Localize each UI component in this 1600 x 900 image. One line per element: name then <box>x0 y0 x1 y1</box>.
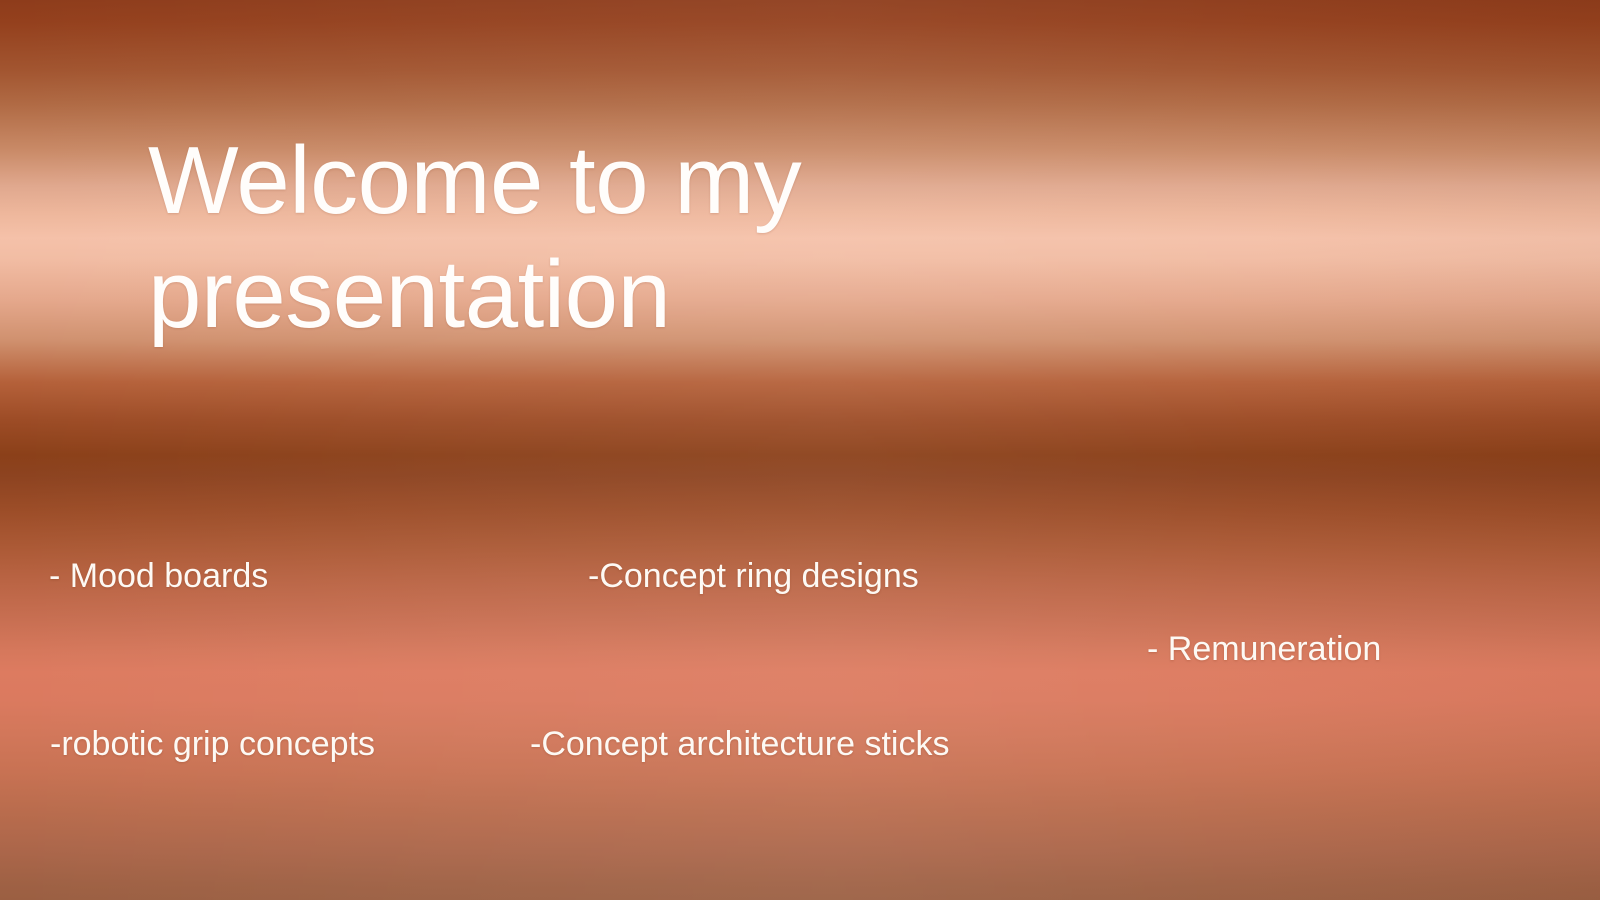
bullet-item-robotic-grip-concepts: -robotic grip concepts <box>50 723 375 765</box>
slide-title-line-2: presentation <box>148 238 1008 352</box>
presentation-slide: Welcome to my presentation - Mood boards… <box>0 0 1600 900</box>
bullet-item-concept-architecture-sticks: -Concept architecture sticks <box>530 723 950 765</box>
slide-title: Welcome to my presentation <box>148 124 1008 352</box>
bullet-item-mood-boards: - Mood boards <box>49 555 268 597</box>
slide-title-line-1: Welcome to my <box>148 124 1008 238</box>
bullet-item-remuneration: - Remuneration <box>1147 628 1381 670</box>
bullet-item-concept-ring-designs: -Concept ring designs <box>588 555 919 597</box>
